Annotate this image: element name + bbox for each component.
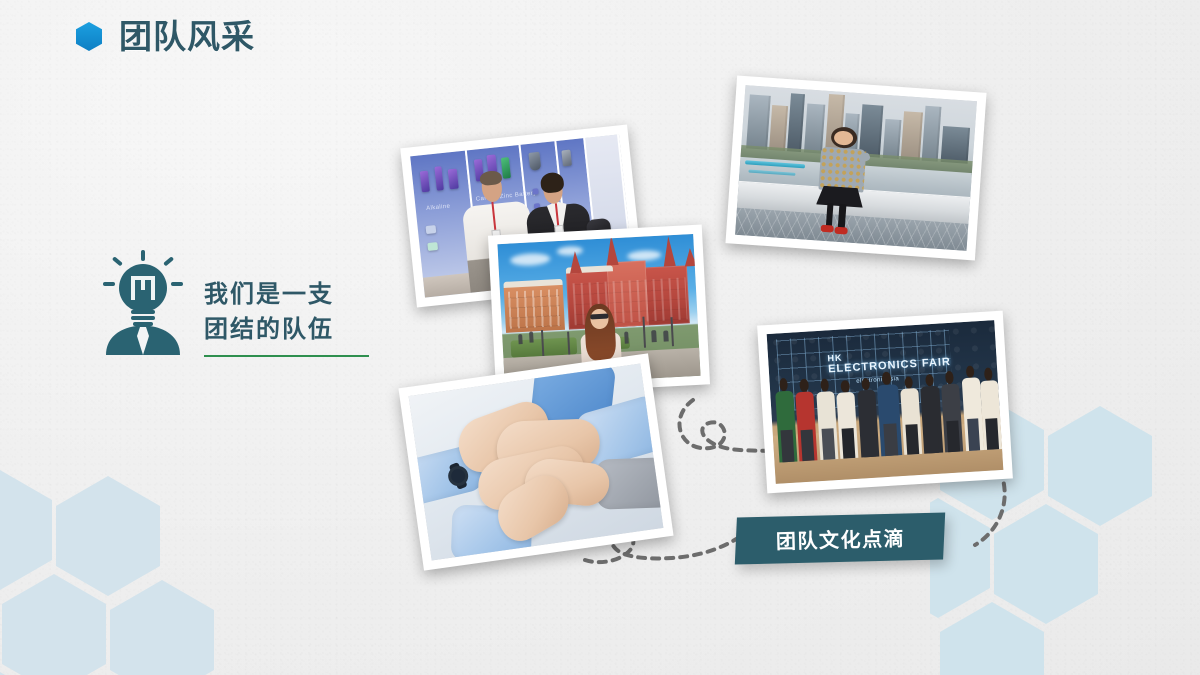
culture-banner-label: 团队文化点滴 bbox=[775, 522, 905, 554]
slide-canvas: 团队风采 bbox=[0, 0, 1200, 675]
photo-riverside-portrait[interactable] bbox=[725, 75, 986, 260]
photo-hk-electronics-fair[interactable]: ELECTRONICS FAIR HK electronicAsia bbox=[757, 311, 1013, 494]
fair-sign-prefix: HK bbox=[827, 352, 843, 363]
photo-collage: Alkaline Carbon Zinc Battery bbox=[0, 0, 1200, 675]
photo-team-hands[interactable] bbox=[398, 353, 673, 570]
culture-banner[interactable]: 团队文化点滴 bbox=[735, 512, 945, 564]
